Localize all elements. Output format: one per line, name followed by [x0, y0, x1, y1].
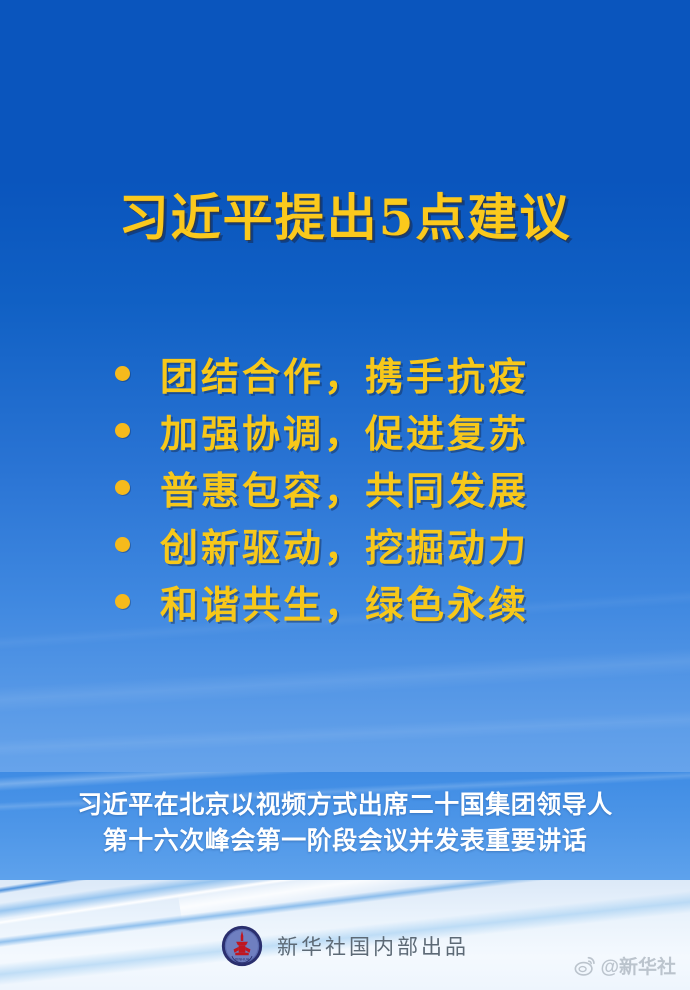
- list-item: 普惠包容，共同发展: [0, 459, 690, 516]
- bullet-dot-icon: [115, 423, 130, 438]
- poster-canvas: 习近平提出5点建议 团结合作，携手抗疫 加强协调，促进复苏 普惠包容，共同发展 …: [0, 0, 690, 990]
- list-item-label: 普惠包容，共同发展: [160, 460, 529, 515]
- bullet-dot-icon: [115, 537, 130, 552]
- bullet-dot-icon: [115, 366, 130, 381]
- weibo-icon: [574, 955, 596, 977]
- list-item-label: 创新驱动，挖掘动力: [160, 517, 529, 572]
- weibo-watermark: @新华社: [574, 952, 676, 979]
- weibo-handle: @新华社: [600, 952, 676, 979]
- list-item: 加强协调，促进复苏: [0, 402, 690, 459]
- list-item-label: 和谐共生，绿色永续: [160, 574, 529, 629]
- proposal-list: 团结合作，携手抗疫 加强协调，促进复苏 普惠包容，共同发展 创新驱动，挖掘动力 …: [0, 345, 690, 630]
- caption-line-1: 习近平在北京以视频方式出席二十国集团领导人: [0, 787, 690, 823]
- footer-label: 新华社国内部出品: [277, 931, 469, 961]
- page-title: 习近平提出5点建议: [0, 178, 690, 250]
- list-item: 团结合作，携手抗疫: [0, 345, 690, 402]
- xinhua-logo-icon: XINHUA: [221, 925, 263, 967]
- bullet-dot-icon: [115, 480, 130, 495]
- list-item: 创新驱动，挖掘动力: [0, 516, 690, 573]
- list-item: 和谐共生，绿色永续: [0, 573, 690, 630]
- bullet-dot-icon: [115, 594, 130, 609]
- caption-line-2: 第十六次峰会第一阶段会议并发表重要讲话: [0, 823, 690, 859]
- list-item-label: 加强协调，促进复苏: [160, 403, 529, 458]
- svg-text:XINHUA: XINHUA: [235, 957, 250, 962]
- list-item-label: 团结合作，携手抗疫: [160, 346, 529, 401]
- caption: 习近平在北京以视频方式出席二十国集团领导人 第十六次峰会第一阶段会议并发表重要讲…: [0, 787, 690, 859]
